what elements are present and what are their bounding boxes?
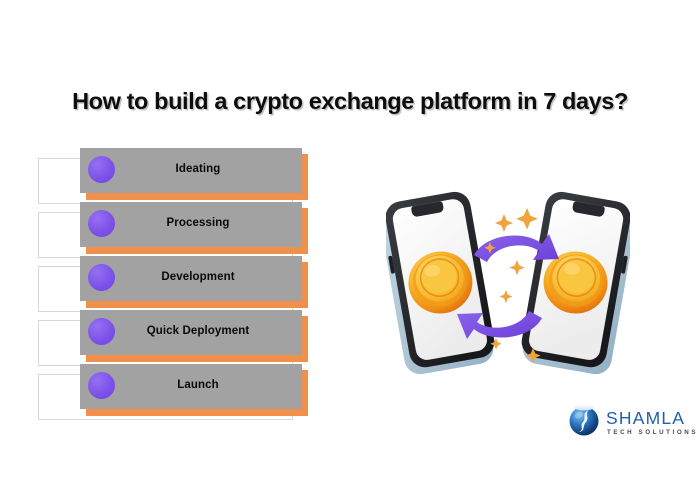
step-label: Development <box>147 271 234 283</box>
step-label: Ideating <box>162 163 221 175</box>
step-bullet-circle <box>88 210 115 237</box>
process-step-list: Ideating Processing Development Quick <box>38 144 328 414</box>
step-bullet-circle <box>88 264 115 291</box>
phone-right <box>518 189 630 376</box>
crypto-exchange-illustration <box>386 186 630 386</box>
list-item[interactable]: Development <box>38 252 328 306</box>
step-bullet-circle <box>88 372 115 399</box>
step-bullet-circle <box>88 318 115 345</box>
list-item[interactable]: Launch <box>38 360 328 414</box>
step-label: Launch <box>163 379 219 391</box>
list-item[interactable]: Quick Deployment <box>38 306 328 360</box>
step-bullet-circle <box>88 156 115 183</box>
logo-tagline-text: TECH SOLUTIONS <box>607 429 696 436</box>
shamla-sphere-icon <box>570 405 599 436</box>
logo-brand-text: SHAMLA <box>606 408 685 428</box>
step-label: Quick Deployment <box>133 325 250 337</box>
step-label: Processing <box>153 217 230 229</box>
shamla-tech-logo: SHAMLA TECH SOLUTIONS <box>566 400 696 440</box>
phone-left <box>386 189 498 376</box>
list-item[interactable]: Ideating <box>38 144 328 198</box>
page-title: How to build a crypto exchange platform … <box>0 88 700 115</box>
list-item[interactable]: Processing <box>38 198 328 252</box>
poster-canvas: How to build a crypto exchange platform … <box>0 0 700 500</box>
